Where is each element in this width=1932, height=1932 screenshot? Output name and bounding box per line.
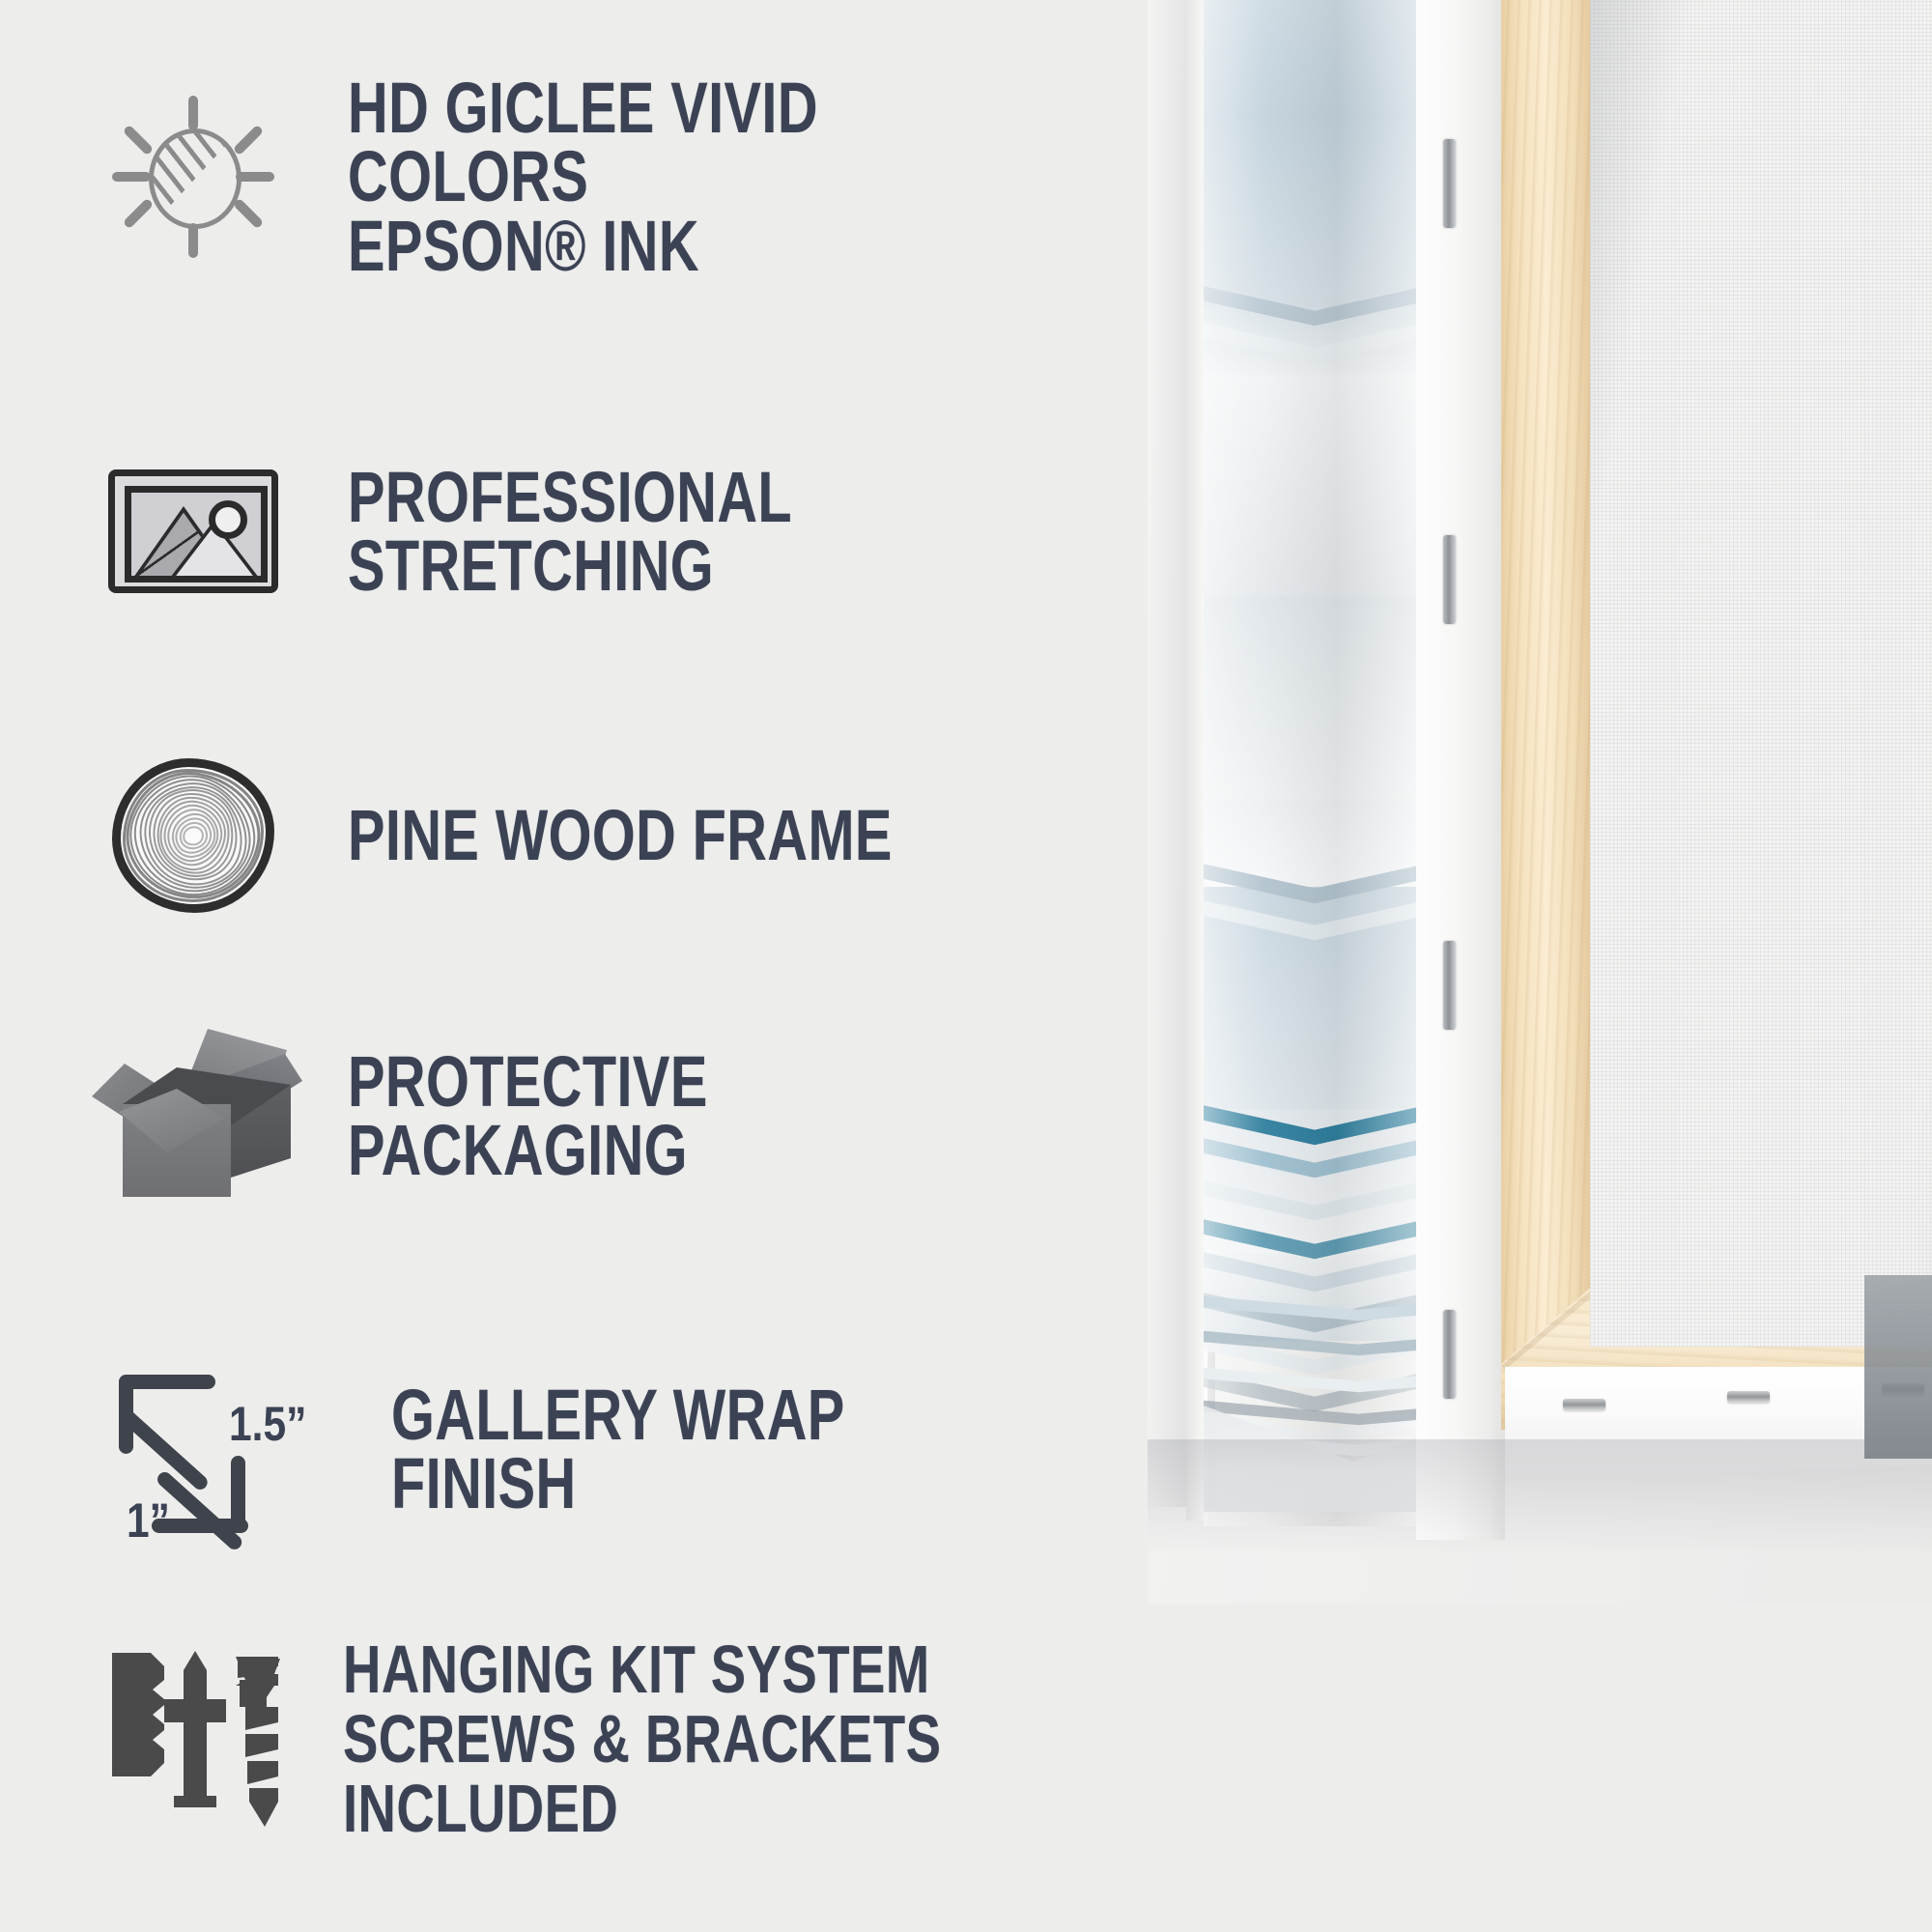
feature-pine-wood-frame: PINE WOOD FRAME: [97, 749, 1063, 923]
feature-professional-stretching: PROFESSIONAL STRETCHING: [97, 449, 1063, 613]
feature-label: GALLERY WRAP FINISH: [391, 1380, 994, 1518]
photo-dark-sliver: [1864, 1275, 1932, 1459]
pine-stretcher-bar-vertical: [1501, 0, 1594, 1419]
picture-frame-icon: [97, 469, 290, 593]
sun-icon: [97, 96, 290, 258]
feature-label: HD GICLEE VIVID COLORS EPSON® INK: [348, 73, 905, 279]
hardware-glyphs: [106, 1647, 280, 1831]
feature-hanging-kit: HANGING KIT SYSTEM SCREWS & BRACKETS INC…: [97, 1637, 1256, 1840]
photo-bottom-shadow: [1148, 1439, 1932, 1555]
gallery-wrap-arrows-icon: 1.5” 1”: [101, 1367, 343, 1531]
infographic-canvas: HD GICLEE VIVID COLORS EPSON® INK PROFES…: [0, 0, 1932, 1932]
canvas-vignette: [1590, 0, 1932, 1347]
depth-dimension-label: 1.5”: [229, 1396, 306, 1452]
feature-label: HANGING KIT SYSTEM SCREWS & BRACKETS INC…: [343, 1634, 1055, 1843]
staple: [1727, 1391, 1770, 1403]
width-dimension-label: 1”: [127, 1492, 170, 1548]
wood-grain: [1501, 0, 1594, 1419]
feature-label: PROFESSIONAL STRETCHING: [348, 463, 905, 600]
feature-protective-packaging: PROTECTIVE PACKAGING: [92, 1024, 1058, 1207]
feature-label: PROTECTIVE PACKAGING: [348, 1047, 901, 1184]
feature-label: PINE WOOD FRAME: [348, 801, 893, 869]
canvas-back-texture: [1590, 0, 1932, 1347]
staple: [1563, 1399, 1605, 1410]
stapled-canvas-side: [1416, 0, 1505, 1540]
open-box-icon: [92, 1029, 295, 1203]
feature-hd-giclee: HD GICLEE VIVID COLORS EPSON® INK: [97, 85, 1063, 269]
wood-ring-icon: [97, 758, 290, 913]
product-photo: [1148, 0, 1932, 1604]
hanging-hardware-icon: [97, 1647, 290, 1831]
feature-gallery-wrap-finish: 1.5” 1” GALLERY WRAP FINISH: [101, 1352, 1164, 1546]
